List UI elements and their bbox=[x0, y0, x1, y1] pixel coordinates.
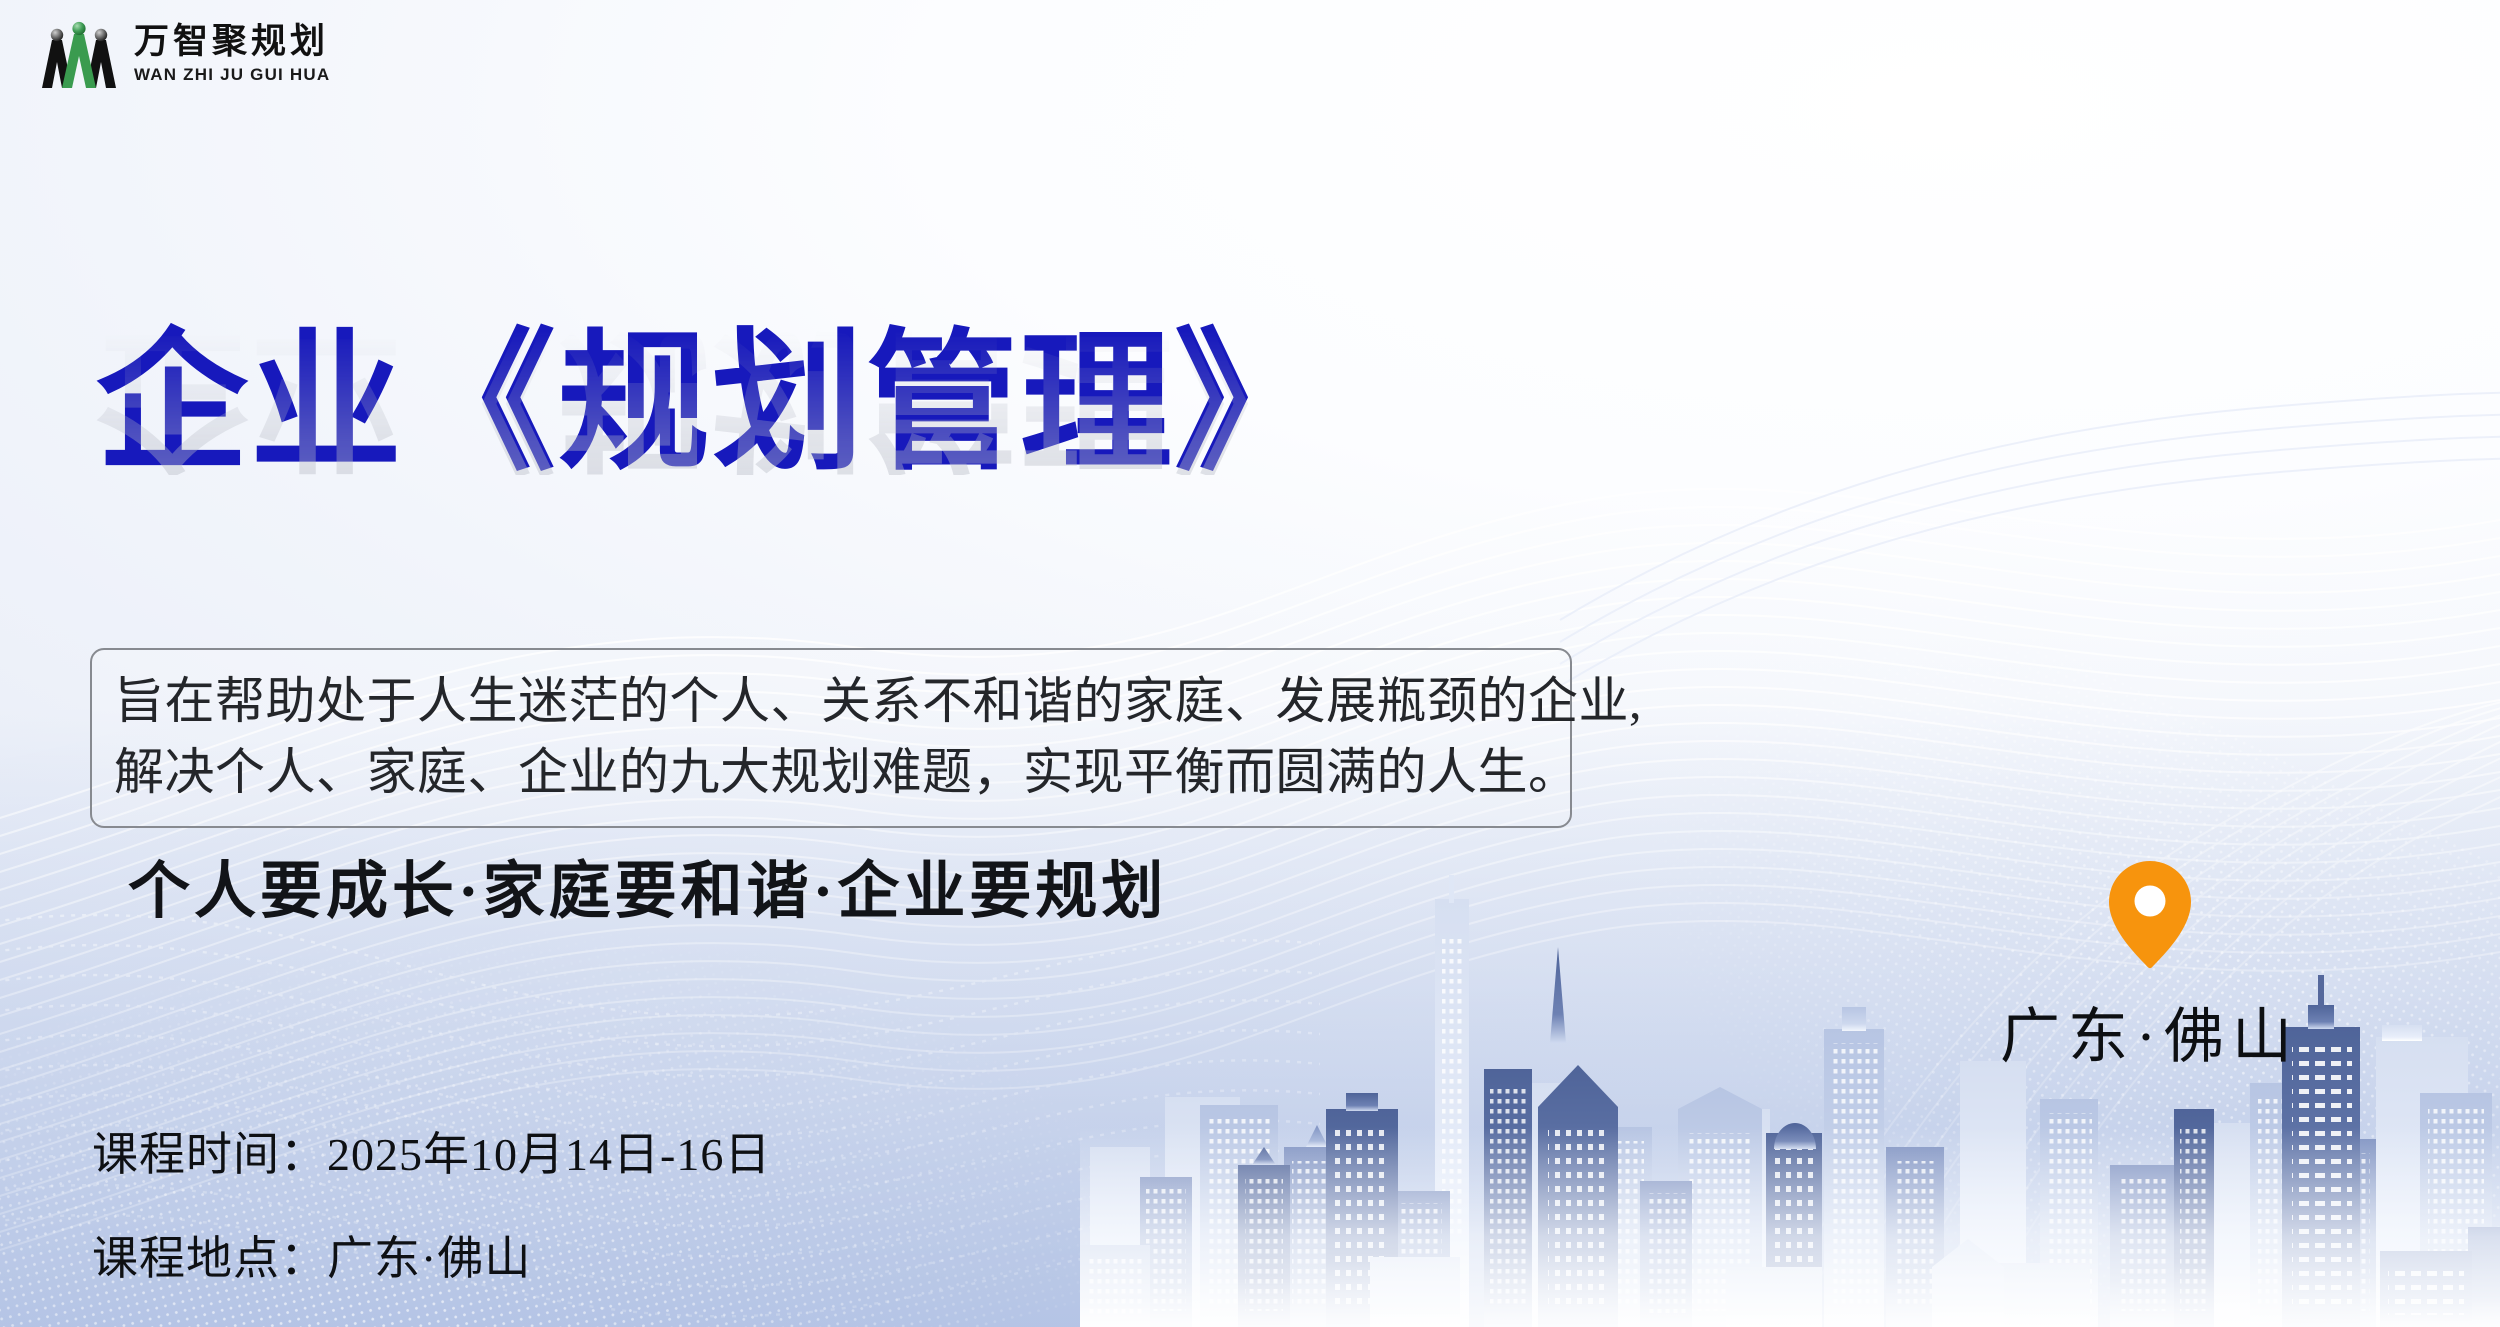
location-city-name: 广东·佛山 bbox=[1955, 988, 2345, 1075]
hero-title-block: 企业《规划管理》 企业《规划管理》 bbox=[96, 326, 1656, 630]
poster-canvas: 万智聚规划 WAN ZHI JU GUI HUA 企业《规划管理》 企业《规划管… bbox=[0, 0, 2500, 1327]
page-title-reflection: 企业《规划管理》 bbox=[96, 320, 1656, 475]
brand-logo[interactable]: 万智聚规划 WAN ZHI JU GUI HUA bbox=[38, 16, 330, 90]
course-description-line-2: 解决个人、家庭、企业的九大规划难题，实现平衡而圆满的人生。 bbox=[114, 737, 1548, 808]
course-description-line-1: 旨在帮助处于人生迷茫的个人、关系不和谐的家庭、发展瓶颈的企业, bbox=[114, 666, 1548, 737]
brand-name-pinyin: WAN ZHI JU GUI HUA bbox=[134, 66, 330, 83]
skyline-bottom-fade bbox=[1080, 1127, 2500, 1327]
course-place-row: 课程地点：广东·佛山 bbox=[92, 1222, 771, 1288]
course-slogan: 个人要成长·家庭要和谐·企业要规划 bbox=[128, 840, 1167, 930]
three-people-m-logo-icon bbox=[38, 16, 120, 90]
course-description-box: 旨在帮助处于人生迷茫的个人、关系不和谐的家庭、发展瓶颈的企业, 解决个人、家庭、… bbox=[90, 648, 1572, 828]
location-badge: 广东·佛山 bbox=[1955, 858, 2345, 1075]
map-pin-icon bbox=[2107, 858, 2193, 970]
course-meta: 课程时间：2025年10月14日-16日 课程地点：广东·佛山 bbox=[92, 1118, 771, 1288]
course-date-row: 课程时间：2025年10月14日-16日 bbox=[92, 1118, 771, 1184]
brand-logo-text: 万智聚规划 WAN ZHI JU GUI HUA bbox=[134, 24, 330, 83]
brand-name-cn: 万智聚规划 bbox=[134, 24, 330, 59]
